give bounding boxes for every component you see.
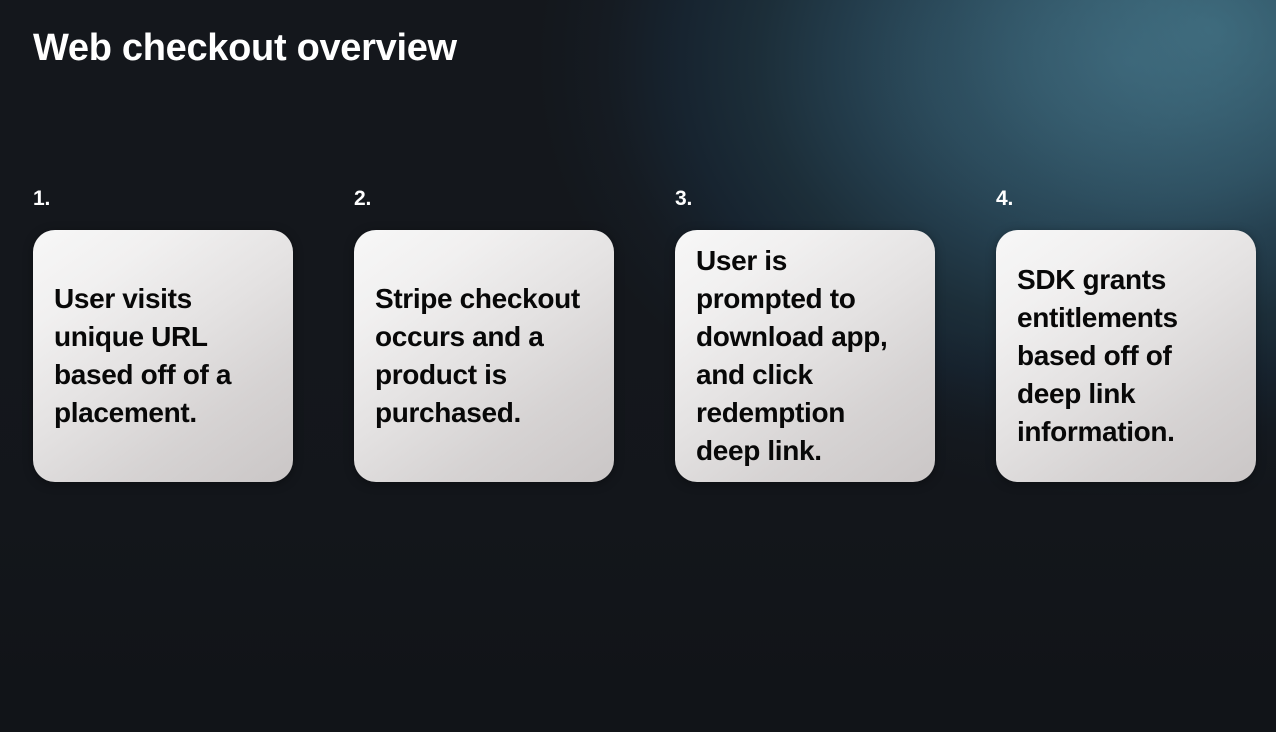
steps-row: 1. User visits unique URL based off of a… [33,186,1243,482]
step-number-4: 4. [996,186,1256,212]
step-2: 2. Stripe checkout occurs and a product … [354,186,614,482]
step-number-3: 3. [675,186,935,212]
step-card-4[interactable]: SDK grants entitlements based off of dee… [996,230,1256,482]
step-card-1[interactable]: User visits unique URL based off of a pl… [33,230,293,482]
step-1: 1. User visits unique URL based off of a… [33,186,293,482]
step-card-3[interactable]: User is prompted to download app, and cl… [675,230,935,482]
slide-canvas: Web checkout overview 1. User visits uni… [0,0,1276,732]
step-4: 4. SDK grants entitlements based off of … [996,186,1256,482]
step-card-text-1: User visits unique URL based off of a pl… [54,280,272,432]
step-card-text-4: SDK grants entitlements based off of dee… [1017,261,1235,451]
step-card-text-3: User is prompted to download app, and cl… [696,242,914,470]
page-title: Web checkout overview [33,24,457,72]
step-card-text-2: Stripe checkout occurs and a product is … [375,280,593,432]
step-number-1: 1. [33,186,293,212]
step-number-2: 2. [354,186,614,212]
step-3: 3. User is prompted to download app, and… [675,186,935,482]
step-card-2[interactable]: Stripe checkout occurs and a product is … [354,230,614,482]
